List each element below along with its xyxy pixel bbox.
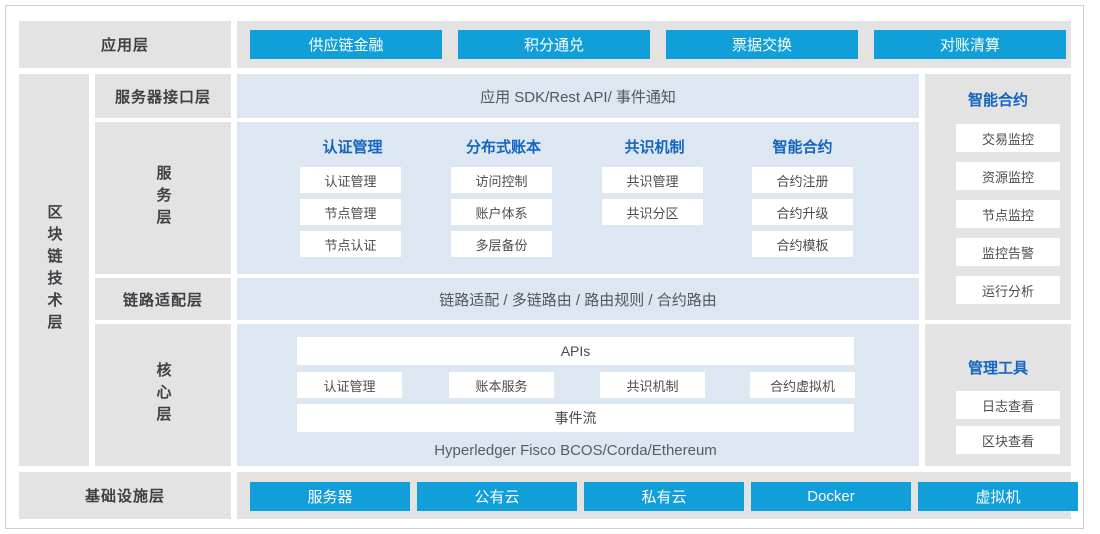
service-chip-2-1[interactable]: 共识分区 [602, 199, 703, 225]
service-chip-3-0[interactable]: 合约注册 [752, 167, 853, 193]
service-chip-0-1[interactable]: 节点管理 [300, 199, 401, 225]
server-interface-layer-label: 服务器接口层 [95, 74, 231, 118]
side-panel-smart-contract-item-4[interactable]: 运行分析 [956, 276, 1060, 304]
infra-button-1[interactable]: 公有云 [417, 482, 577, 511]
application-layer-label: 应用层 [19, 21, 231, 68]
service-col-header-2: 共识机制 [602, 134, 707, 158]
app-button-2[interactable]: 票据交换 [666, 30, 858, 59]
diagram-frame: 应用层 供应链金融 积分通兑 票据交换 对账清算 区块链技术层 服务器接口层 应… [5, 5, 1084, 529]
service-chip-1-2[interactable]: 多层备份 [451, 231, 552, 257]
service-chip-3-2[interactable]: 合约模板 [752, 231, 853, 257]
service-chip-2-0[interactable]: 共识管理 [602, 167, 703, 193]
service-chip-1-0[interactable]: 访问控制 [451, 167, 552, 193]
infra-button-4[interactable]: 虚拟机 [918, 482, 1078, 511]
side-panel-admin-tools-title: 管理工具 [925, 354, 1071, 380]
app-button-1[interactable]: 积分通兑 [458, 30, 650, 59]
core-layer-label: 核心层 [95, 324, 231, 466]
side-panel-smart-contract-item-1[interactable]: 资源监控 [956, 162, 1060, 190]
core-module-1[interactable]: 账本服务 [449, 372, 554, 398]
service-col-header-1: 分布式账本 [451, 134, 556, 158]
side-panel-admin-tools-item-1[interactable]: 区块查看 [956, 426, 1060, 454]
side-panel-smart-contract-item-3[interactable]: 监控告警 [956, 238, 1060, 266]
core-layer-text: 核心层 [153, 362, 174, 428]
service-layer-text: 服务层 [153, 165, 174, 231]
blockchain-tech-layer-label: 区块链技术层 [19, 74, 89, 466]
service-layer-label: 服务层 [95, 122, 231, 274]
core-platforms-text: Hyperledger Fisco BCOS/Corda/Ethereum [297, 438, 854, 462]
core-module-0[interactable]: 认证管理 [297, 372, 402, 398]
service-chip-0-2[interactable]: 节点认证 [300, 231, 401, 257]
architecture-diagram: 应用层 供应链金融 积分通兑 票据交换 对账清算 区块链技术层 服务器接口层 应… [0, 0, 1100, 534]
server-interface-layer-band: 应用 SDK/Rest API/ 事件通知 [237, 74, 919, 118]
app-button-0[interactable]: 供应链金融 [250, 30, 442, 59]
infra-button-2[interactable]: 私有云 [584, 482, 744, 511]
infra-button-3[interactable]: Docker [751, 482, 911, 511]
service-chip-1-1[interactable]: 账户体系 [451, 199, 552, 225]
blockchain-tech-layer-text: 区块链技术层 [44, 204, 65, 336]
side-panel-admin-tools-item-0[interactable]: 日志查看 [956, 391, 1060, 419]
service-chip-3-1[interactable]: 合约升级 [752, 199, 853, 225]
side-panel-smart-contract-title: 智能合约 [925, 86, 1071, 112]
link-adapter-layer-band: 链路适配 / 多链路由 / 路由规则 / 合约路由 [237, 278, 919, 320]
link-adapter-layer-label: 链路适配层 [95, 278, 231, 320]
core-event-stream-bar[interactable]: 事件流 [297, 404, 854, 432]
side-panel-smart-contract-item-2[interactable]: 节点监控 [956, 200, 1060, 228]
side-panel-smart-contract-item-0[interactable]: 交易监控 [956, 124, 1060, 152]
core-module-3[interactable]: 合约虚拟机 [750, 372, 855, 398]
infra-button-0[interactable]: 服务器 [250, 482, 410, 511]
app-button-3[interactable]: 对账清算 [874, 30, 1066, 59]
core-module-2[interactable]: 共识机制 [600, 372, 705, 398]
infrastructure-layer-label: 基础设施层 [19, 472, 231, 519]
core-apis-bar[interactable]: APIs [297, 337, 854, 365]
service-chip-0-0[interactable]: 认证管理 [300, 167, 401, 193]
service-col-header-3: 智能合约 [750, 134, 855, 158]
service-col-header-0: 认证管理 [300, 134, 405, 158]
